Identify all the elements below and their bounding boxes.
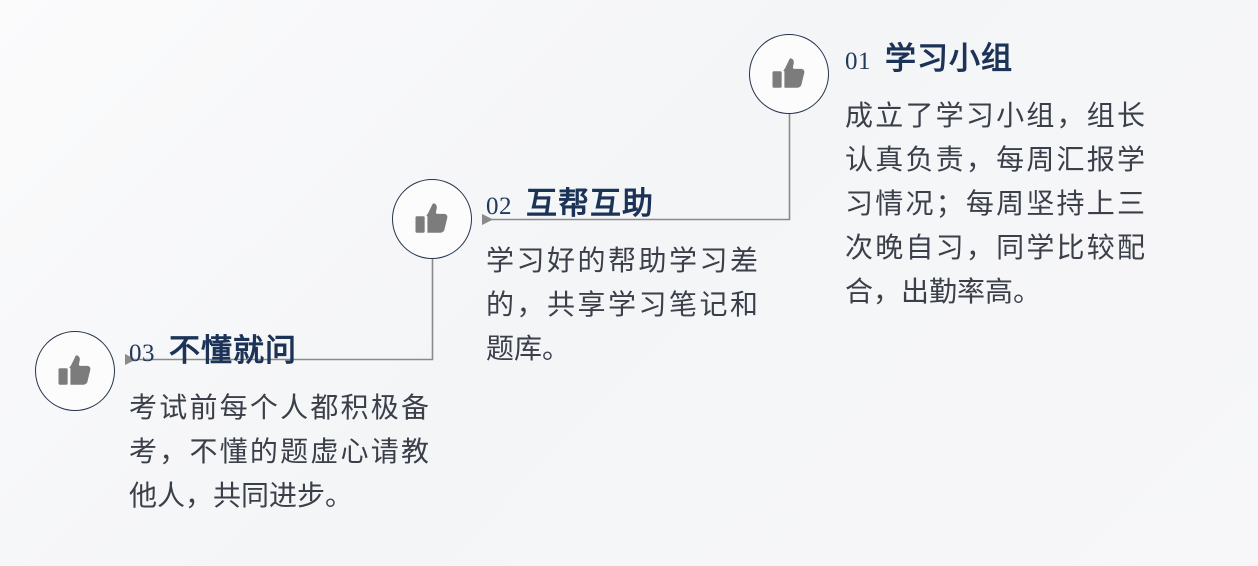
thumbs-up-icon xyxy=(767,52,811,96)
step-title-03: 不懂就问 xyxy=(169,325,297,370)
step-block-03: 03 不懂就问 考试前每个人都积极备考，不懂的题虚心请教他人，共同进步。 xyxy=(129,325,429,519)
step-block-02: 02 互帮互助 学习好的帮助学习差的，共享学习笔记和题库。 xyxy=(486,178,758,372)
thumbs-up-icon xyxy=(410,197,454,241)
step-number-01: 01 xyxy=(845,48,871,76)
thumbs-up-icon xyxy=(53,349,97,393)
step-badge-01 xyxy=(749,34,829,114)
step-block-01: 01 学习小组 成立了学习小组，组长认真负责，每周汇报学习情况；每周坚持上三次晚… xyxy=(845,33,1145,315)
step-badge-02 xyxy=(392,179,472,259)
step-heading-03: 03 不懂就问 xyxy=(129,325,429,370)
step-title-02: 互帮互助 xyxy=(526,178,654,223)
diagram-canvas: 01 学习小组 成立了学习小组，组长认真负责，每周汇报学习情况；每周坚持上三次晚… xyxy=(0,0,1258,566)
step-title-01: 学习小组 xyxy=(885,33,1013,78)
step-heading-01: 01 学习小组 xyxy=(845,33,1145,78)
step-body-01: 成立了学习小组，组长认真负责，每周汇报学习情况；每周坚持上三次晚自习，同学比较配… xyxy=(845,95,1145,315)
step-badge-03 xyxy=(35,331,115,411)
step-number-02: 02 xyxy=(486,193,512,221)
step-heading-02: 02 互帮互助 xyxy=(486,178,758,223)
step-number-03: 03 xyxy=(129,340,155,368)
step-body-03: 考试前每个人都积极备考，不懂的题虚心请教他人，共同进步。 xyxy=(129,387,429,519)
step-body-02: 学习好的帮助学习差的，共享学习笔记和题库。 xyxy=(486,240,758,372)
